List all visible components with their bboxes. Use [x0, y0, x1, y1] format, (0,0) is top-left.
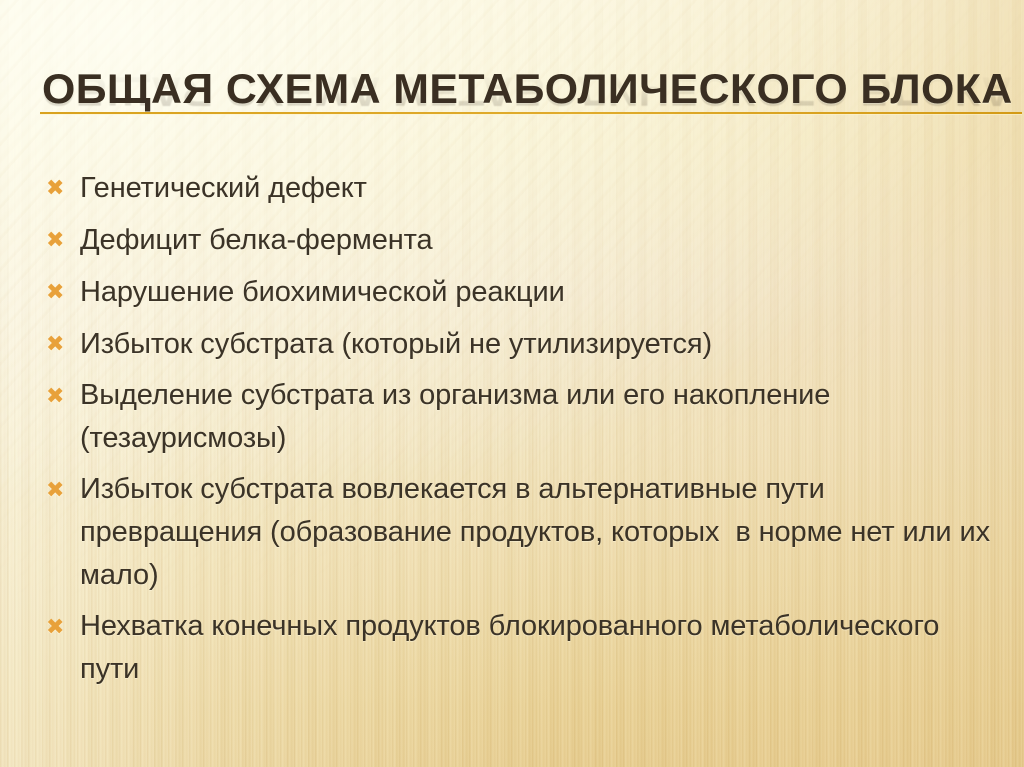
bullet-x-icon: ✖	[40, 468, 80, 512]
list-item: ✖ Нарушение биохимической реакции	[40, 270, 1006, 322]
list-item: ✖ Дефицит белка-фермента	[40, 218, 1006, 270]
list-item: ✖ Избыток субстрата (который не утилизир…	[40, 322, 1006, 374]
bullet-x-icon: ✖	[40, 270, 80, 314]
bullet-x-icon: ✖	[40, 166, 80, 210]
list-item-text: Дефицит белка-фермента	[80, 218, 1006, 262]
list-item-text: Избыток субстрата (который не утилизируе…	[80, 322, 1006, 366]
slide-title-block: ОБЩАЯ СХЕМА МЕТАБОЛИЧЕСКОГО БЛОКА ОБЩАЯ …	[40, 66, 1000, 162]
bullet-x-icon: ✖	[40, 605, 80, 649]
list-item: ✖ Нехватка конечных продуктов блокирован…	[40, 605, 1006, 699]
bullet-x-icon: ✖	[40, 322, 80, 366]
list-item: ✖ Генетический дефект	[40, 166, 1006, 218]
presentation-slide: ОБЩАЯ СХЕМА МЕТАБОЛИЧЕСКОГО БЛОКА ОБЩАЯ …	[0, 0, 1024, 767]
title-underline-rule	[40, 112, 1022, 114]
slide-title: ОБЩАЯ СХЕМА МЕТАБОЛИЧЕСКОГО БЛОКА	[42, 66, 1013, 112]
list-item-text: Нехватка конечных продуктов блокированно…	[80, 605, 1006, 691]
list-item: ✖ Избыток субстрата вовлекается в альтер…	[40, 468, 1006, 605]
bullet-list: ✖ Генетический дефект ✖ Дефицит белка-фе…	[40, 166, 1006, 699]
list-item-text: Избыток субстрата вовлекается в альтерна…	[80, 468, 1006, 597]
bullet-x-icon: ✖	[40, 218, 80, 262]
list-item-text: Генетический дефект	[80, 166, 1006, 210]
list-item-text: Выделение субстрата из организма или его…	[80, 374, 1006, 460]
list-item: ✖ Выделение субстрата из организма или е…	[40, 374, 1006, 468]
bullet-x-icon: ✖	[40, 374, 80, 418]
list-item-text: Нарушение биохимической реакции	[80, 270, 1006, 314]
